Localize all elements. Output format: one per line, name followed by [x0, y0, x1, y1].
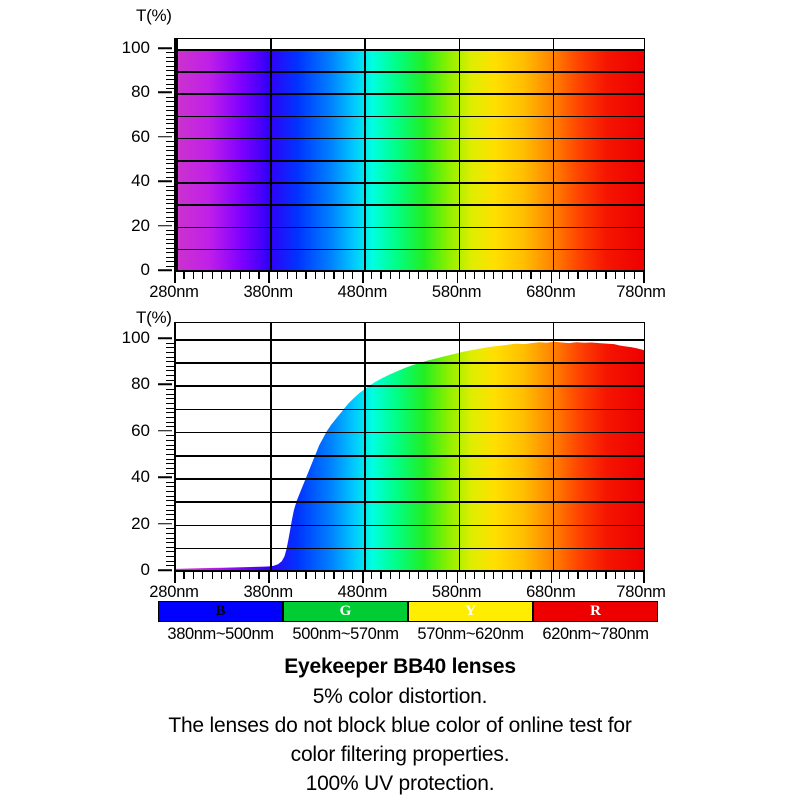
x-tick-minor: [230, 572, 231, 579]
x-tick-minor: [605, 572, 606, 579]
caption-line-3: color filtering properties.: [0, 740, 800, 769]
x-tick-minor: [465, 272, 466, 279]
legend-letter: B: [215, 603, 225, 619]
y-minor-tick: [166, 75, 174, 76]
y-minor-tick: [166, 440, 174, 441]
x-tick-minor: [615, 572, 616, 579]
x-tick-label: 480nm: [338, 583, 387, 602]
y-minor-tick: [166, 70, 174, 71]
x-tick-minor: [465, 572, 466, 579]
x-tick-minor: [493, 572, 494, 579]
y-tick-label: 60: [30, 127, 150, 147]
y-minor-tick: [166, 343, 174, 344]
x-tick-minor: [287, 572, 288, 579]
y-minor-tick: [166, 514, 174, 515]
y-minor-tick: [166, 445, 174, 446]
x-tick-minor: [296, 572, 297, 579]
x-tick-minor: [530, 272, 531, 279]
color-band-legend: B 380nm~500nm G 500nm~570nm Y 570nm~620n…: [0, 601, 800, 649]
y-minor-tick: [166, 239, 174, 240]
x-tick-minor: [240, 572, 241, 579]
x-tick-minor: [212, 272, 213, 279]
x-tick-minor: [437, 272, 438, 279]
x-tick-minor: [202, 572, 203, 579]
y-tick-mark: [158, 136, 172, 138]
x-tick-minor: [212, 572, 213, 579]
x-tick-major: [457, 572, 459, 583]
legend-range-label: 500nm~570nm: [283, 625, 408, 644]
y-minor-tick: [166, 177, 174, 178]
y-minor-tick: [166, 366, 174, 367]
x-tick-major: [643, 272, 645, 283]
y-minor-tick: [166, 190, 174, 191]
y-minor-tick: [166, 221, 174, 222]
x-tick-minor: [512, 572, 513, 579]
caption-line-1: 5% color distortion.: [0, 682, 800, 711]
y-minor-tick: [166, 97, 174, 98]
y-tick-label: 80: [30, 374, 150, 394]
x-tick-major: [643, 572, 645, 583]
y-tick-label: 40: [30, 171, 150, 191]
x-tick-minor: [221, 572, 222, 579]
spectrum-gradient: [176, 339, 644, 570]
y-minor-tick: [166, 565, 174, 566]
y-minor-tick: [166, 370, 174, 371]
x-tick-major: [362, 272, 364, 283]
x-tick-minor: [577, 272, 578, 279]
x-tick-minor: [493, 272, 494, 279]
x-tick-minor: [380, 272, 381, 279]
y-minor-tick: [166, 551, 174, 552]
caption-line-2: The lenses do not block blue color of on…: [0, 711, 800, 740]
x-tick-minor: [296, 272, 297, 279]
x-tick-minor: [512, 272, 513, 279]
y-tick-label: 100: [30, 328, 150, 348]
x-tick-minor: [333, 572, 334, 579]
y-tick-mark: [158, 476, 172, 478]
x-tick-minor: [352, 572, 353, 579]
y-minor-tick: [166, 266, 174, 267]
y-minor-tick: [166, 496, 174, 497]
x-tick-minor: [634, 572, 635, 579]
legend-letter: G: [340, 603, 352, 619]
y-tick-mark: [158, 47, 172, 49]
x-tick-minor: [596, 572, 597, 579]
x-tick-minor: [240, 272, 241, 279]
y-minor-tick: [166, 230, 174, 231]
plot-frame: [174, 322, 645, 570]
x-tick-label: 580nm: [432, 583, 481, 602]
x-tick-minor: [624, 572, 625, 579]
y-minor-tick: [166, 459, 174, 460]
y-minor-tick: [166, 538, 174, 539]
legend-swatch-green: G: [283, 601, 408, 622]
y-minor-tick: [166, 500, 174, 501]
y-tick-label: 100: [30, 38, 150, 58]
y-minor-tick: [166, 106, 174, 107]
y-minor-tick: [166, 217, 174, 218]
y-minor-tick: [166, 186, 174, 187]
y-minor-tick: [166, 357, 174, 358]
x-tick-minor: [371, 272, 372, 279]
x-tick-minor: [577, 572, 578, 579]
y-minor-tick: [166, 556, 174, 557]
legend-item-yellow: Y 570nm~620nm: [408, 601, 533, 644]
x-axis: [174, 270, 645, 282]
y-minor-tick: [166, 88, 174, 89]
x-tick-major: [551, 272, 553, 283]
x-tick-minor: [258, 272, 259, 279]
y-minor-tick: [166, 248, 174, 249]
x-tick-minor: [409, 272, 410, 279]
y-tick-label: 80: [30, 82, 150, 102]
legend-item-red: R 620nm~780nm: [533, 601, 658, 644]
y-minor-tick: [166, 454, 174, 455]
legend-range-label: 620nm~780nm: [533, 625, 658, 644]
y-minor-tick: [166, 110, 174, 111]
y-minor-tick: [166, 468, 174, 469]
x-tick-minor: [596, 272, 597, 279]
x-tick-minor: [343, 572, 344, 579]
legend-letter: R: [590, 603, 601, 619]
y-minor-tick: [166, 101, 174, 102]
x-tick-minor: [249, 572, 250, 579]
x-tick-minor: [568, 572, 569, 579]
y-minor-tick: [166, 482, 174, 483]
y-minor-tick: [166, 57, 174, 58]
y-tick-label: 0: [30, 260, 150, 280]
x-tick-minor: [540, 572, 541, 579]
y-axis-title: T(%): [136, 308, 172, 328]
y-minor-tick: [166, 398, 174, 399]
y-minor-tick: [166, 155, 174, 156]
y-minor-tick: [166, 257, 174, 258]
x-tick-minor: [446, 572, 447, 579]
y-minor-tick: [166, 208, 174, 209]
x-tick-minor: [193, 572, 194, 579]
chart-bb40-lens-transmission: T(%) 100 80 60 40 20 0: [0, 300, 800, 600]
y-tick-mark: [158, 384, 172, 386]
x-tick-minor: [521, 572, 522, 579]
x-tick-minor: [183, 272, 184, 279]
x-tick-minor: [352, 272, 353, 279]
y-minor-tick: [166, 172, 174, 173]
x-tick-minor: [399, 272, 400, 279]
y-minor-tick: [166, 243, 174, 244]
x-tick-minor: [193, 272, 194, 279]
x-tick-major: [268, 572, 270, 583]
y-minor-tick: [166, 163, 174, 164]
y-minor-tick: [166, 352, 174, 353]
y-minor-tick: [166, 403, 174, 404]
y-tick-mark: [158, 225, 172, 227]
y-minor-tick: [166, 505, 174, 506]
y-minor-tick: [166, 261, 174, 262]
legend-swatch-red: R: [533, 601, 658, 622]
legend-item-blue: B 380nm~500nm: [158, 601, 283, 644]
x-tick-minor: [380, 572, 381, 579]
y-tick-mark: [158, 569, 172, 571]
x-tick-major: [268, 272, 270, 283]
spectrum-gradient: [176, 49, 644, 270]
x-tick-minor: [634, 272, 635, 279]
x-tick-minor: [324, 572, 325, 579]
x-tick-minor: [427, 272, 428, 279]
y-minor-tick: [166, 159, 174, 160]
x-tick-minor: [315, 272, 316, 279]
chart-full-spectrum-reference: T(%) 100 80 60 40 20 0: [0, 0, 800, 305]
y-minor-tick: [166, 533, 174, 534]
y-tick-mark: [158, 430, 172, 432]
x-tick-minor: [409, 572, 410, 579]
y-tick-mark: [158, 92, 172, 94]
x-tick-minor: [390, 572, 391, 579]
x-tick-minor: [521, 272, 522, 279]
legend-swatch-yellow: Y: [408, 601, 533, 622]
y-tick-mark: [158, 269, 172, 271]
x-tick-minor: [502, 272, 503, 279]
x-tick-minor: [202, 272, 203, 279]
y-minor-tick: [166, 52, 174, 53]
y-minor-tick: [166, 547, 174, 548]
x-tick-minor: [559, 572, 560, 579]
y-minor-tick: [166, 412, 174, 413]
y-minor-tick: [166, 542, 174, 543]
x-tick-minor: [540, 272, 541, 279]
y-minor-tick: [166, 394, 174, 395]
y-minor-tick: [166, 79, 174, 80]
x-tick-minor: [221, 272, 222, 279]
x-tick-major: [174, 572, 176, 583]
x-tick-minor: [333, 272, 334, 279]
x-tick-minor: [258, 572, 259, 579]
x-tick-minor: [390, 272, 391, 279]
caption-block: Eyekeeper BB40 lenses 5% color distortio…: [0, 652, 800, 798]
x-tick-minor: [249, 272, 250, 279]
x-tick-minor: [446, 272, 447, 279]
x-tick-minor: [287, 272, 288, 279]
x-axis: [174, 570, 645, 582]
legend-letter: Y: [465, 603, 476, 619]
plot-area: [176, 339, 644, 570]
y-minor-tick: [166, 463, 174, 464]
x-tick-minor: [484, 572, 485, 579]
y-minor-tick: [166, 408, 174, 409]
legend-range-label: 570nm~620nm: [408, 625, 533, 644]
x-tick-minor: [371, 572, 372, 579]
x-tick-label: 380nm: [243, 583, 292, 602]
x-tick-major: [174, 272, 176, 283]
y-tick-label: 20: [30, 216, 150, 236]
plot-area: [176, 49, 644, 270]
x-tick-minor: [587, 272, 588, 279]
x-tick-label: 280nm: [149, 583, 198, 602]
y-minor-tick: [166, 61, 174, 62]
x-tick-minor: [484, 272, 485, 279]
x-tick-minor: [474, 272, 475, 279]
x-tick-major: [362, 572, 364, 583]
x-tick-minor: [587, 572, 588, 579]
x-tick-minor: [183, 572, 184, 579]
x-tick-minor: [624, 272, 625, 279]
plot-frame: [174, 38, 645, 270]
y-minor-tick: [166, 132, 174, 133]
legend-item-green: G 500nm~570nm: [283, 601, 408, 644]
x-tick-minor: [305, 572, 306, 579]
y-tick-label: 60: [30, 421, 150, 441]
x-tick-minor: [568, 272, 569, 279]
y-minor-tick: [166, 449, 174, 450]
x-tick-minor: [277, 272, 278, 279]
y-minor-tick: [166, 561, 174, 562]
y-minor-tick: [166, 361, 174, 362]
y-minor-tick: [166, 128, 174, 129]
y-minor-tick: [166, 203, 174, 204]
y-minor-tick: [166, 150, 174, 151]
x-tick-minor: [437, 572, 438, 579]
x-tick-minor: [474, 572, 475, 579]
y-minor-tick: [166, 426, 174, 427]
product-title: Eyekeeper BB40 lenses: [0, 652, 800, 682]
x-tick-minor: [230, 272, 231, 279]
x-tick-minor: [530, 572, 531, 579]
y-minor-tick: [166, 491, 174, 492]
legend-swatch-blue: B: [158, 601, 283, 622]
x-tick-minor: [277, 572, 278, 579]
y-minor-tick: [166, 123, 174, 124]
y-minor-tick: [166, 435, 174, 436]
x-tick-minor: [324, 272, 325, 279]
y-minor-tick: [166, 375, 174, 376]
x-tick-minor: [502, 572, 503, 579]
x-tick-minor: [427, 572, 428, 579]
y-minor-tick: [166, 212, 174, 213]
x-tick-minor: [343, 272, 344, 279]
y-minor-tick: [166, 141, 174, 142]
y-minor-tick: [166, 168, 174, 169]
x-tick-minor: [315, 572, 316, 579]
y-minor-tick: [166, 66, 174, 67]
y-tick-label: 40: [30, 467, 150, 487]
y-minor-tick: [166, 510, 174, 511]
y-minor-tick: [166, 115, 174, 116]
x-tick-label: 780nm: [616, 583, 665, 602]
y-minor-tick: [166, 84, 174, 85]
x-tick-major: [551, 572, 553, 583]
x-tick-minor: [305, 272, 306, 279]
y-minor-tick: [166, 528, 174, 529]
x-tick-minor: [605, 272, 606, 279]
y-minor-tick: [166, 417, 174, 418]
y-tick-mark: [158, 180, 172, 182]
y-minor-tick: [166, 422, 174, 423]
x-tick-minor: [615, 272, 616, 279]
y-tick-mark: [158, 337, 172, 339]
y-minor-tick: [166, 347, 174, 348]
x-tick-minor: [399, 572, 400, 579]
y-minor-tick: [166, 389, 174, 390]
caption-line-4: 100% UV protection.: [0, 769, 800, 798]
y-tick-mark: [158, 523, 172, 525]
y-tick-label: 20: [30, 514, 150, 534]
y-minor-tick: [166, 473, 174, 474]
y-minor-tick: [166, 486, 174, 487]
legend-range-label: 380nm~500nm: [158, 625, 283, 644]
y-minor-tick: [166, 146, 174, 147]
x-tick-major: [457, 272, 459, 283]
x-tick-label: 680nm: [526, 583, 575, 602]
x-tick-minor: [418, 572, 419, 579]
y-minor-tick: [166, 195, 174, 196]
y-minor-tick: [166, 252, 174, 253]
x-tick-minor: [559, 272, 560, 279]
x-tick-minor: [418, 272, 419, 279]
y-tick-label: 0: [30, 560, 150, 580]
y-minor-tick: [166, 119, 174, 120]
y-minor-tick: [166, 234, 174, 235]
y-minor-tick: [166, 519, 174, 520]
y-minor-tick: [166, 199, 174, 200]
y-minor-tick: [166, 380, 174, 381]
y-axis-title: T(%): [136, 6, 172, 26]
